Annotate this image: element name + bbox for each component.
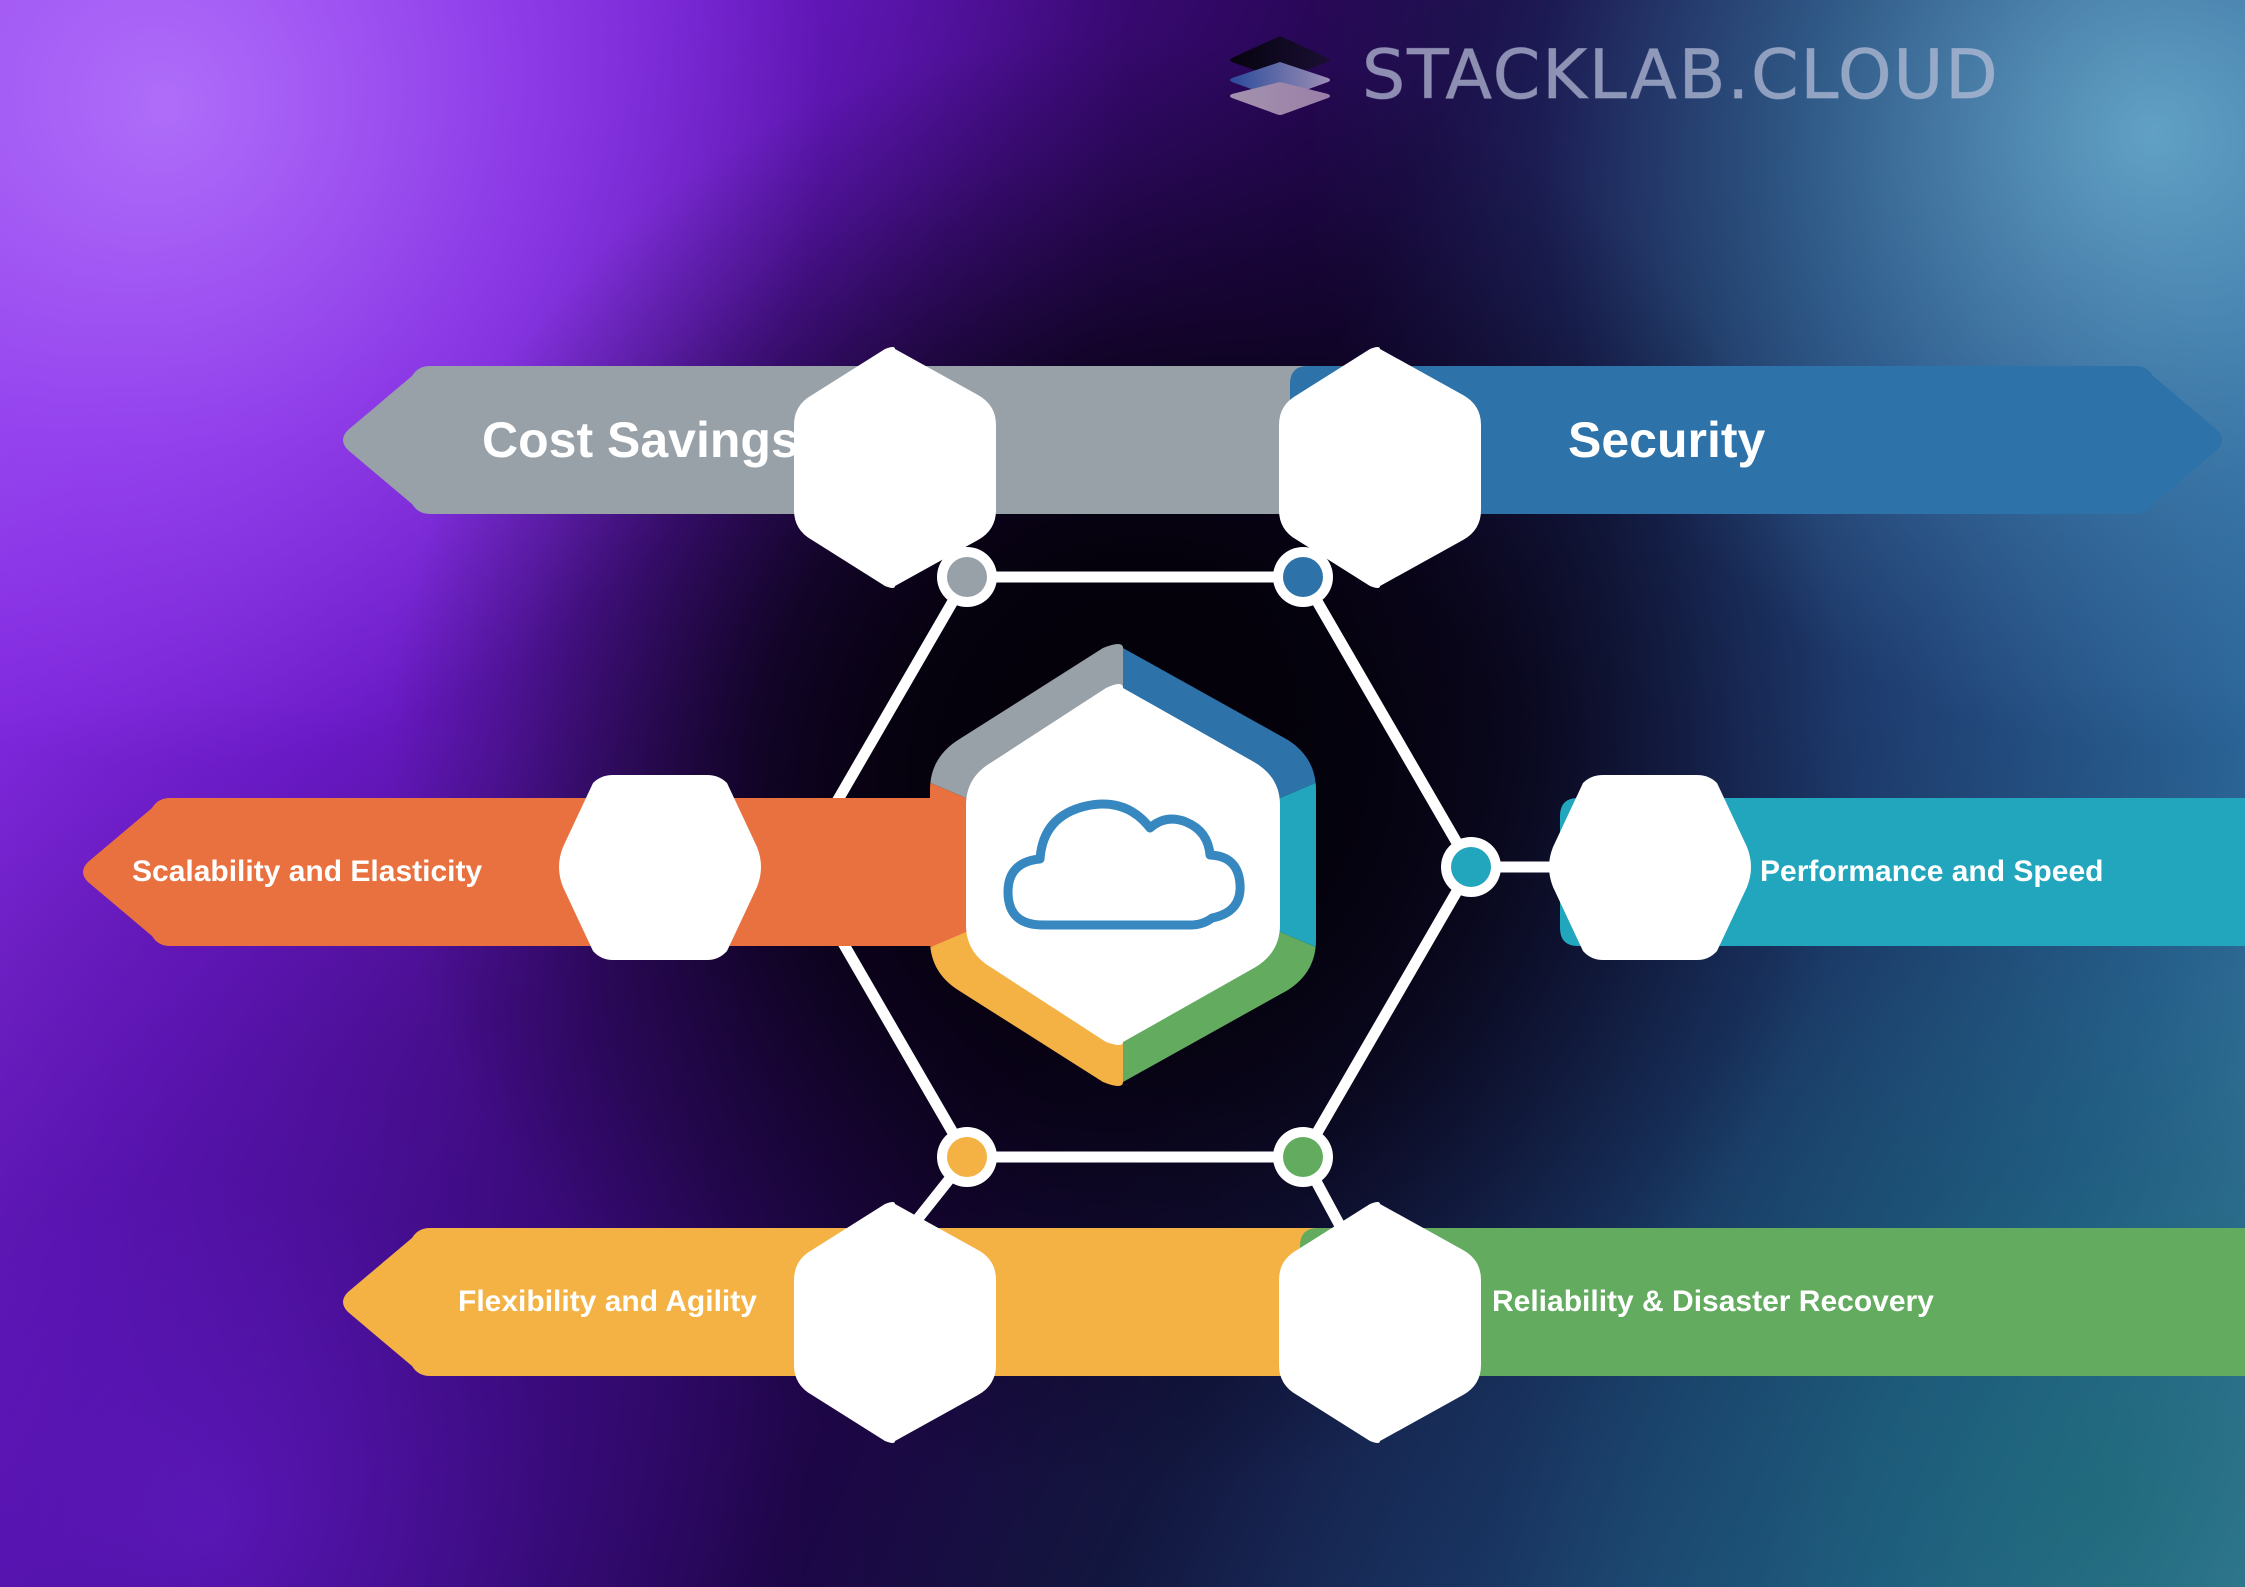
node-badge-performance-and-speed[interactable] <box>1545 775 1755 960</box>
node-label-reliability-and-disaster-recovery: Reliability & Disaster Recovery <box>1492 1285 1934 1319</box>
stacked-layers-icon <box>1228 34 1332 116</box>
node-badge-flexibility-and-agility[interactable] <box>790 1200 1000 1445</box>
node-badge-scalability-and-elasticity[interactable] <box>555 775 765 960</box>
brand-name: STACKLAB.CLOUD <box>1362 36 2000 115</box>
brand-logo[interactable]: STACKLAB.CLOUD <box>1228 34 2000 116</box>
node-label-flexibility-and-agility: Flexibility and Agility <box>458 1285 757 1319</box>
node-label-cost-savings: Cost Savings <box>482 411 799 469</box>
node-badge-cost-savings[interactable] <box>790 345 1000 590</box>
node-label-scalability-and-elasticity: Scalability and Elasticity <box>132 855 482 889</box>
node-badge-security[interactable] <box>1275 345 1485 590</box>
center-cloud-emblem[interactable] <box>898 640 1348 1090</box>
node-label-security: Security <box>1568 411 1765 469</box>
node-badge-reliability-and-disaster-recovery[interactable] <box>1275 1200 1485 1445</box>
infographic-canvas: STACKLAB.CLOUD <box>0 0 2245 1587</box>
node-label-performance-and-speed: Performance and Speed <box>1760 855 2103 889</box>
